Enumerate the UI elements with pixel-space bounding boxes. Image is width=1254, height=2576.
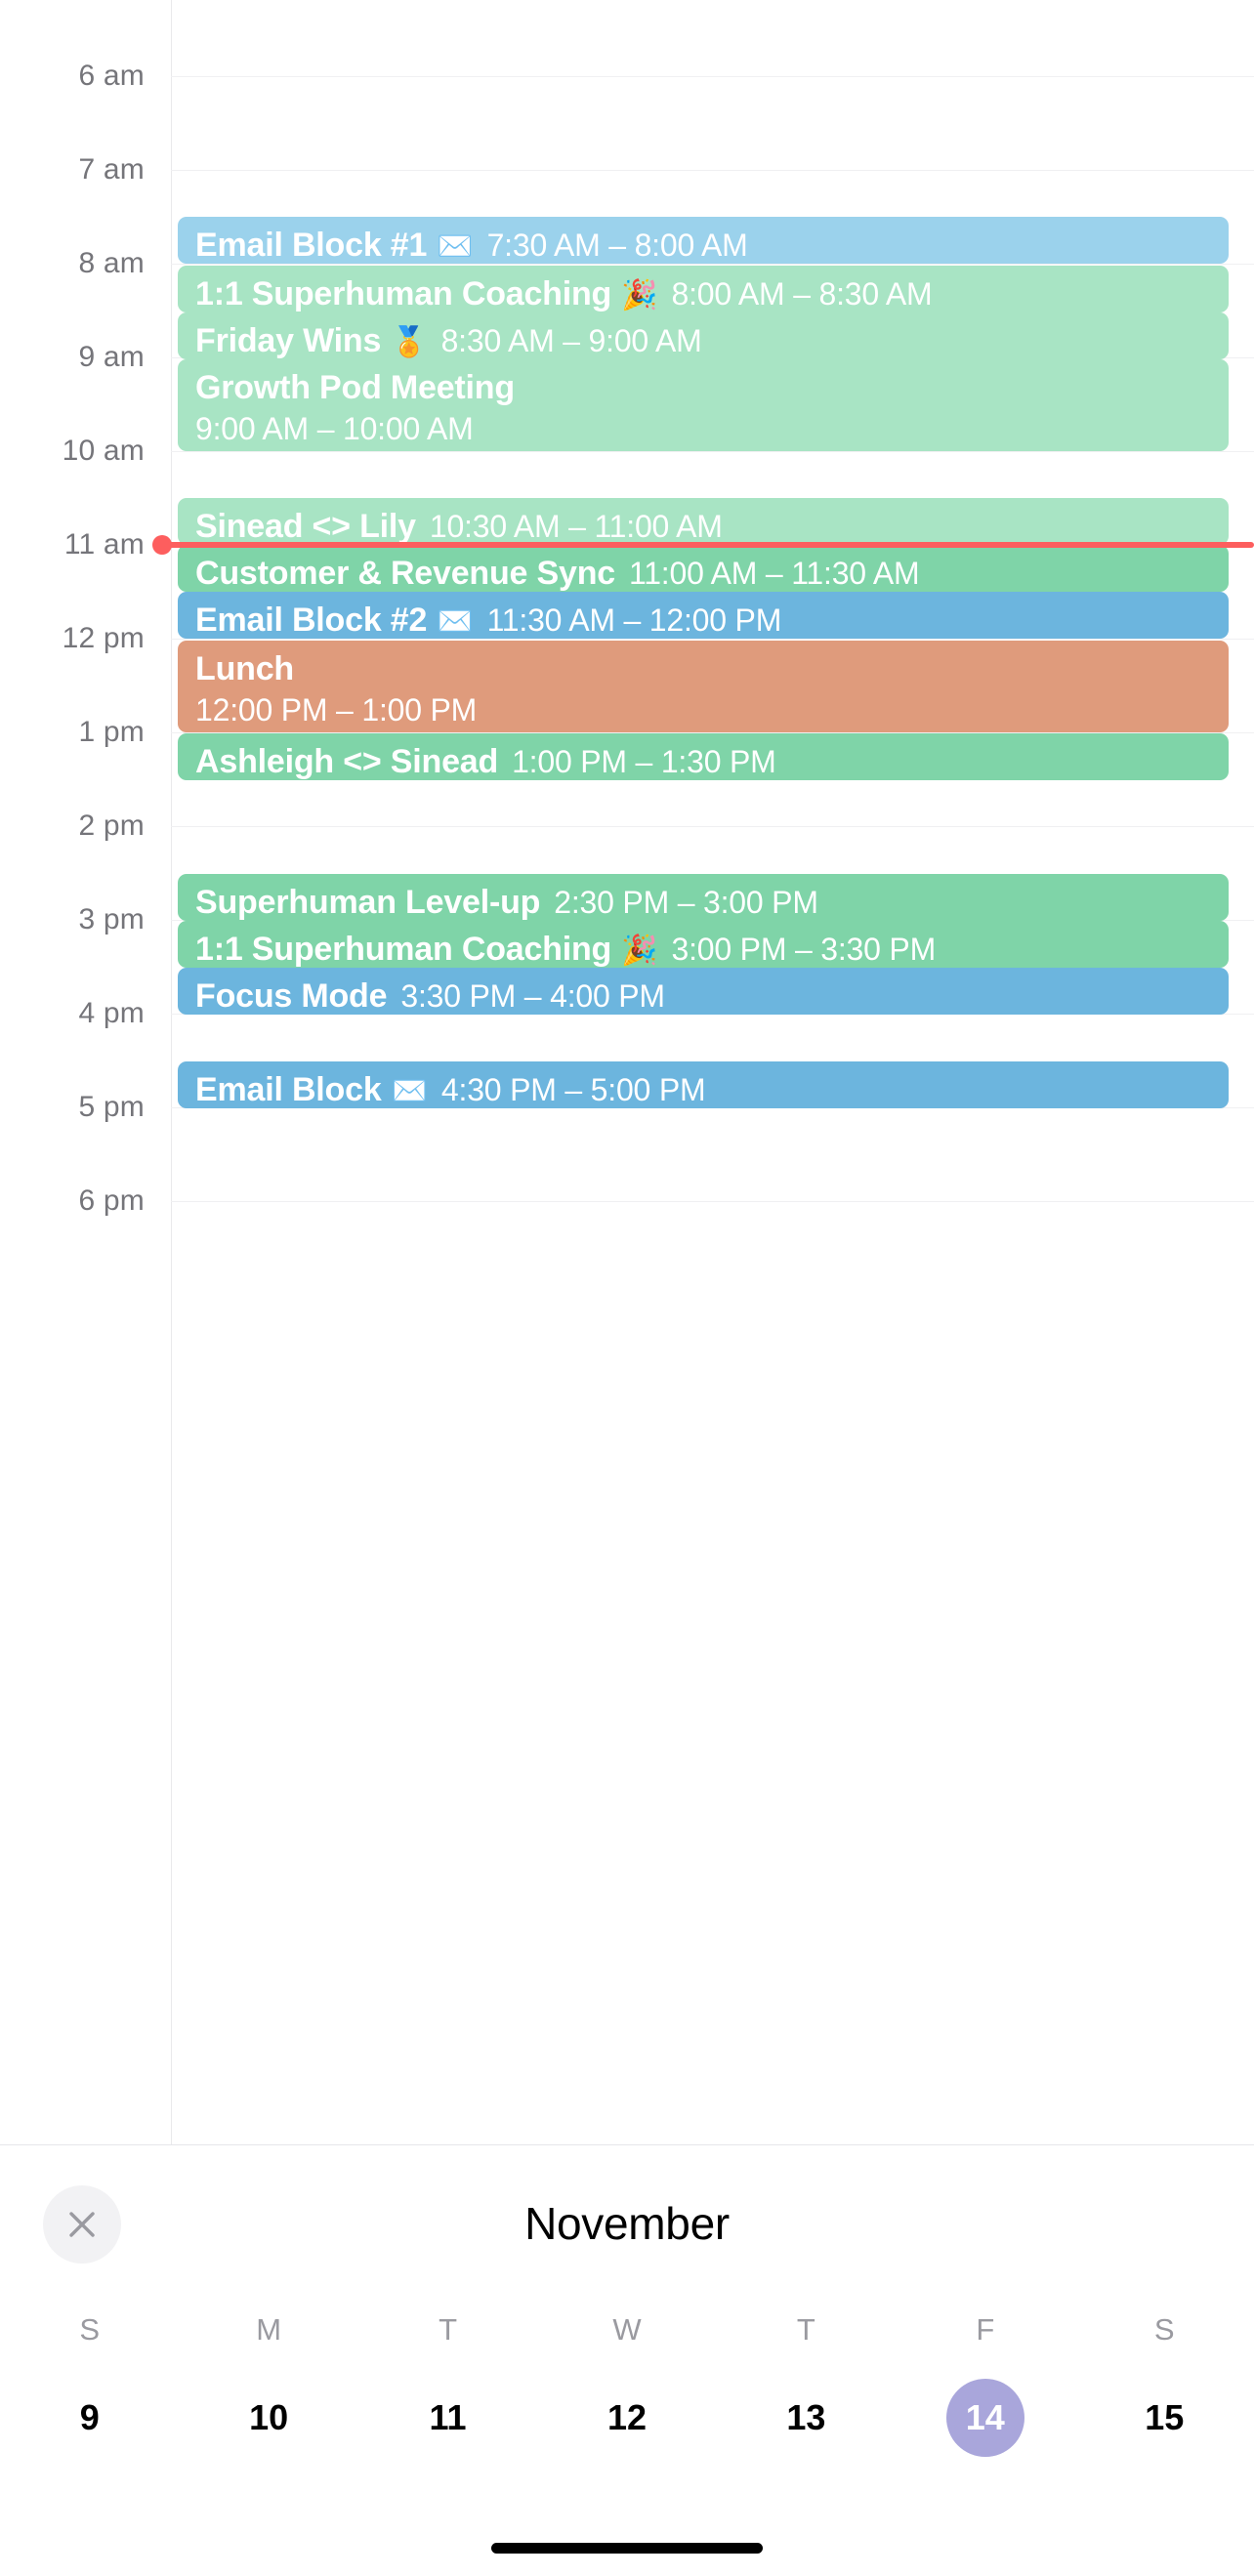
event-title: Superhuman Level-up [195, 883, 540, 921]
event-time-range: 11:00 AM – 11:30 AM [629, 555, 919, 592]
event-title-line: Sinead <> Lily10:30 AM – 11:00 AM [195, 507, 1211, 545]
event-title-line: 1:1 Superhuman Coaching🎉8:00 AM – 8:30 A… [195, 274, 1211, 312]
time-gutter-divider [171, 0, 172, 2144]
close-icon [63, 2205, 102, 2244]
date-pill[interactable]: 11 [409, 2379, 487, 2457]
event-title: Sinead <> Lily [195, 507, 416, 545]
calendar-event[interactable]: Sinead <> Lily10:30 AM – 11:00 AM [178, 498, 1229, 545]
event-title: Customer & Revenue Sync [195, 554, 615, 592]
event-time-range: 3:30 PM – 4:00 PM [400, 977, 665, 1015]
date-picker-sheet: November SMTWTFS 9101112131415 [0, 2144, 1254, 2576]
event-emoji-icon: 🎉 [621, 278, 657, 312]
hour-label: 6 pm [0, 1184, 145, 1218]
date-cell[interactable]: 14 [896, 2376, 1074, 2460]
date-cell[interactable]: 13 [717, 2376, 896, 2460]
calendar-event[interactable]: Email Block #2✉️11:30 AM – 12:00 PM [178, 592, 1229, 639]
hour-gridline [171, 170, 1254, 171]
event-emoji-icon: 🎉 [621, 934, 657, 968]
event-time-range: 2:30 PM – 3:00 PM [554, 884, 818, 921]
calendar-event[interactable]: 1:1 Superhuman Coaching🎉8:00 AM – 8:30 A… [178, 266, 1229, 312]
hour-label: 4 pm [0, 997, 145, 1030]
event-title-line: Superhuman Level-up2:30 PM – 3:00 PM [195, 883, 1211, 921]
event-time-range: 10:30 AM – 11:00 AM [430, 508, 723, 545]
date-cell[interactable]: 9 [0, 2376, 179, 2460]
event-title-line: Email Block✉️4:30 PM – 5:00 PM [195, 1070, 1211, 1108]
event-time-range: 4:30 PM – 5:00 PM [441, 1071, 706, 1108]
close-button[interactable] [43, 2185, 121, 2264]
date-cell[interactable]: 12 [537, 2376, 716, 2460]
event-title: Email Block [195, 1070, 382, 1108]
calendar-event[interactable]: Focus Mode3:30 PM – 4:00 PM [178, 968, 1229, 1015]
calendar-event[interactable]: Lunch12:00 PM – 1:00 PM [178, 641, 1229, 732]
weekday-label: F [896, 2302, 1074, 2358]
calendar-event[interactable]: Ashleigh <> Sinead1:00 PM – 1:30 PM [178, 733, 1229, 780]
current-time-dot [152, 535, 172, 555]
date-pill[interactable]: 13 [767, 2379, 845, 2457]
event-title-line: Growth Pod Meeting [195, 368, 1211, 408]
hour-gridline [171, 1201, 1254, 1202]
weekday-header-row: SMTWTFS [0, 2302, 1254, 2358]
event-title: Friday Wins [195, 321, 381, 359]
hour-gridline [171, 826, 1254, 827]
event-time-range: 11:30 AM – 12:00 PM [487, 602, 782, 639]
weekday-label: T [717, 2302, 896, 2358]
event-title: Focus Mode [195, 976, 387, 1015]
event-emoji-icon: ✉️ [437, 229, 473, 264]
calendar-event[interactable]: 1:1 Superhuman Coaching🎉3:00 PM – 3:30 P… [178, 921, 1229, 968]
calendar-event[interactable]: Growth Pod Meeting9:00 AM – 10:00 AM [178, 359, 1229, 451]
calendar-event[interactable]: Customer & Revenue Sync11:00 AM – 11:30 … [178, 545, 1229, 592]
date-pill[interactable]: 9 [51, 2379, 129, 2457]
calendar-event[interactable]: Email Block #1✉️7:30 AM – 8:00 AM [178, 217, 1229, 264]
event-emoji-icon: ✉️ [437, 604, 473, 639]
hour-label: 2 pm [0, 810, 145, 843]
hour-label: 10 am [0, 435, 145, 468]
event-title: Ashleigh <> Sinead [195, 742, 498, 780]
hour-label: 6 am [0, 60, 145, 93]
event-time-range: 8:30 AM – 9:00 AM [441, 322, 702, 359]
event-title-line: Email Block #1✉️7:30 AM – 8:00 AM [195, 226, 1211, 264]
weekday-label: S [0, 2302, 179, 2358]
date-strip-row[interactable]: 9101112131415 [0, 2376, 1254, 2460]
event-emoji-icon: 🏅 [391, 325, 427, 359]
hour-label: 12 pm [0, 622, 145, 655]
calendar-event[interactable]: Superhuman Level-up2:30 PM – 3:00 PM [178, 874, 1229, 921]
hour-label: 8 am [0, 247, 145, 280]
weekday-label: S [1075, 2302, 1254, 2358]
event-time-range: 7:30 AM – 8:00 AM [487, 227, 748, 264]
hour-label: 11 am [0, 528, 145, 561]
event-title-line: 1:1 Superhuman Coaching🎉3:00 PM – 3:30 P… [195, 930, 1211, 968]
calendar-event[interactable]: Email Block✉️4:30 PM – 5:00 PM [178, 1061, 1229, 1108]
event-title: Email Block #1 [195, 226, 427, 264]
event-title-line: Email Block #2✉️11:30 AM – 12:00 PM [195, 601, 1211, 639]
event-title: Email Block #2 [195, 601, 427, 639]
event-title-line: Lunch [195, 649, 1211, 689]
event-title-line: Ashleigh <> Sinead1:00 PM – 1:30 PM [195, 742, 1211, 780]
date-cell[interactable]: 10 [179, 2376, 357, 2460]
event-title-line: Focus Mode3:30 PM – 4:00 PM [195, 976, 1211, 1015]
date-cell[interactable]: 15 [1075, 2376, 1254, 2460]
day-calendar-sheet: 6 am7 am8 am9 am10 am11 am12 pm1 pm2 pm3… [0, 0, 1254, 2144]
date-pill[interactable]: 12 [588, 2379, 666, 2457]
weekday-label: W [537, 2302, 716, 2358]
weekday-label: T [358, 2302, 537, 2358]
event-title-line: Friday Wins🏅8:30 AM – 9:00 AM [195, 321, 1211, 359]
month-title: November [0, 2145, 1254, 2302]
event-time-range: 9:00 AM – 10:00 AM [195, 411, 1211, 447]
event-title: 1:1 Superhuman Coaching [195, 930, 611, 968]
event-title: 1:1 Superhuman Coaching [195, 274, 611, 312]
hour-gridline [171, 639, 1254, 640]
day-grid[interactable]: 6 am7 am8 am9 am10 am11 am12 pm1 pm2 pm3… [0, 0, 1254, 2144]
event-time-range: 1:00 PM – 1:30 PM [512, 743, 776, 780]
current-time-indicator [162, 542, 1254, 548]
date-pill-selected[interactable]: 14 [946, 2379, 1024, 2457]
date-pill[interactable]: 10 [230, 2379, 308, 2457]
date-cell[interactable]: 11 [358, 2376, 537, 2460]
hour-label: 7 am [0, 153, 145, 187]
date-picker-header: November [0, 2145, 1254, 2302]
weekday-label: M [179, 2302, 357, 2358]
hour-gridline [171, 451, 1254, 452]
hour-label: 1 pm [0, 716, 145, 749]
home-indicator [491, 2543, 763, 2554]
event-time-range: 8:00 AM – 8:30 AM [672, 275, 933, 312]
hour-label: 9 am [0, 341, 145, 374]
event-title-line: Customer & Revenue Sync11:00 AM – 11:30 … [195, 554, 1211, 592]
calendar-event[interactable]: Friday Wins🏅8:30 AM – 9:00 AM [178, 312, 1229, 359]
event-emoji-icon: ✉️ [392, 1074, 428, 1108]
event-title: Growth Pod Meeting [195, 368, 515, 408]
event-time-range: 3:00 PM – 3:30 PM [672, 931, 937, 968]
hour-gridline [171, 264, 1254, 265]
event-time-range: 12:00 PM – 1:00 PM [195, 692, 1211, 728]
hour-gridline [171, 76, 1254, 77]
date-pill[interactable]: 15 [1125, 2379, 1203, 2457]
event-title: Lunch [195, 649, 294, 689]
hour-label: 3 pm [0, 903, 145, 936]
hour-label: 5 pm [0, 1091, 145, 1124]
